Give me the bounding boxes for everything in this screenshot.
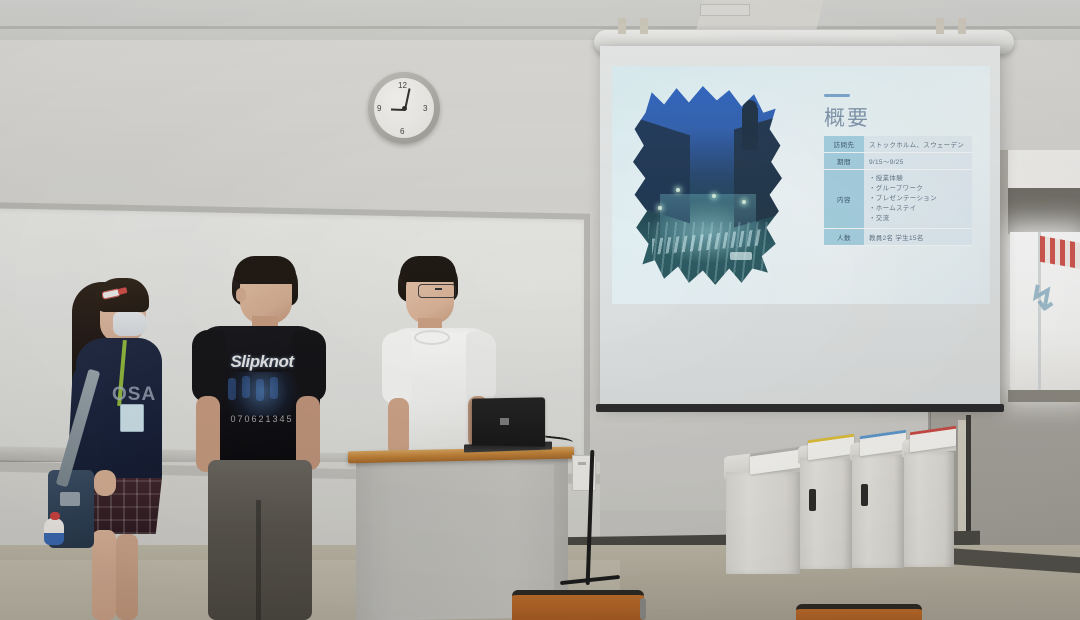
- bag-patch: [60, 492, 80, 506]
- student-left-leg: [92, 530, 116, 620]
- bin-slot: [809, 489, 816, 511]
- window-header: [1008, 188, 1080, 234]
- laptop-logo-icon: [500, 418, 509, 425]
- street-lamp-icon: [742, 200, 746, 204]
- chair-back[interactable]: [796, 604, 922, 620]
- stockholm-street-photo: [630, 84, 785, 289]
- tower-roof: [743, 100, 757, 110]
- classroom-photo: ↯ 12 3 6 9: [0, 0, 1080, 620]
- window-sill: [1008, 390, 1080, 402]
- clock-numeral-12: 12: [398, 81, 407, 90]
- table-value: ・授業体験 ・グループワーク ・プレゼンテーション ・ホームステイ ・交流: [864, 170, 972, 228]
- bin-plastic: [852, 440, 904, 568]
- screen-mount-left2: [640, 18, 648, 34]
- student-left-leg: [116, 534, 138, 620]
- chair-frame: [640, 598, 646, 620]
- plush-charm-body: [44, 533, 64, 545]
- student-right-arm: [388, 398, 409, 456]
- storefront-logo-icon: ↯: [1022, 278, 1064, 320]
- table-row: 人数 教員2名 学生15名: [824, 229, 972, 246]
- student-right-sleeve: [466, 332, 496, 402]
- clock-numeral-9: 9: [377, 104, 381, 113]
- pants-seam: [256, 500, 261, 620]
- tshirt-artwork: [222, 372, 302, 416]
- student-center-fringe: [234, 256, 296, 284]
- student-center-sleeve: [192, 330, 226, 402]
- street-lamp-icon: [676, 188, 680, 192]
- screen-weight-bar: [596, 404, 1004, 412]
- bin-body: [800, 458, 852, 569]
- screen-mount-right2: [958, 18, 966, 34]
- screen-mount-right: [936, 18, 944, 34]
- bin-slot: [861, 484, 868, 506]
- tshirt-number: 070621345: [222, 414, 302, 424]
- bin-burnable: [904, 437, 954, 567]
- table-row: 訪問先 ストックホルム、スウェーデン: [824, 136, 972, 153]
- student-left-hand: [94, 470, 116, 496]
- clock-center-pin: [402, 106, 407, 111]
- table-label: 内容: [824, 170, 864, 228]
- bin-body: [726, 472, 800, 574]
- slide-table: 訪問先 ストックホルム、スウェーデン 期間 9/15～9/25 内容 ・授業体験…: [824, 136, 972, 246]
- student-right-fringe: [400, 256, 456, 282]
- window-upper-strip: [1008, 150, 1080, 188]
- student-center-ear: [236, 288, 246, 302]
- bin-body: [852, 455, 904, 568]
- ceiling-vent: [700, 4, 750, 16]
- tshirt-band-name: Slipknot: [225, 352, 299, 374]
- table-label: 人数: [824, 229, 864, 245]
- ceiling-seam: [0, 26, 1080, 29]
- wall-clock: 12 3 6 9: [368, 72, 440, 144]
- slide-photo: [630, 84, 785, 289]
- glasses-bridge: [435, 288, 442, 290]
- projected-slide: 概要 訪問先 ストックホルム、スウェーデン 期間 9/15～9/25 内容 ・授…: [612, 66, 990, 304]
- table-value: 教員2名 学生15名: [864, 229, 972, 245]
- id-badge: [120, 404, 144, 432]
- slide-title: 概要: [824, 102, 870, 132]
- bin-body: [904, 452, 954, 567]
- face-mask: [113, 312, 147, 336]
- upper-wall: [0, 40, 600, 220]
- chair-back[interactable]: [512, 590, 644, 620]
- glasses-icon: [418, 284, 456, 298]
- clock-tower: [742, 108, 758, 150]
- car: [730, 252, 752, 260]
- clock-numeral-6: 6: [400, 127, 404, 136]
- bin-general: [726, 452, 800, 574]
- plush-charm-ribbon: [50, 512, 60, 520]
- wall-outlet-slot: [578, 462, 586, 465]
- tshirt-collar: [414, 330, 450, 345]
- table-value: 9/15～9/25: [864, 153, 972, 169]
- street-lamp-icon: [658, 206, 662, 210]
- street-lamp-icon: [712, 194, 716, 198]
- clock-numeral-3: 3: [423, 104, 427, 113]
- table-label: 訪問先: [824, 136, 864, 152]
- table-row: 期間 9/15～9/25: [824, 153, 972, 170]
- table-row: 内容 ・授業体験 ・グループワーク ・プレゼンテーション ・ホームステイ ・交流: [824, 170, 972, 229]
- screen-mount-left: [618, 18, 626, 34]
- title-accent-line: [824, 94, 850, 97]
- table-value: ストックホルム、スウェーデン: [864, 136, 972, 152]
- table-label: 期間: [824, 153, 864, 169]
- bin-cans: [800, 443, 852, 569]
- student-center-arm: [296, 396, 320, 470]
- student-right-sleeve: [382, 332, 412, 404]
